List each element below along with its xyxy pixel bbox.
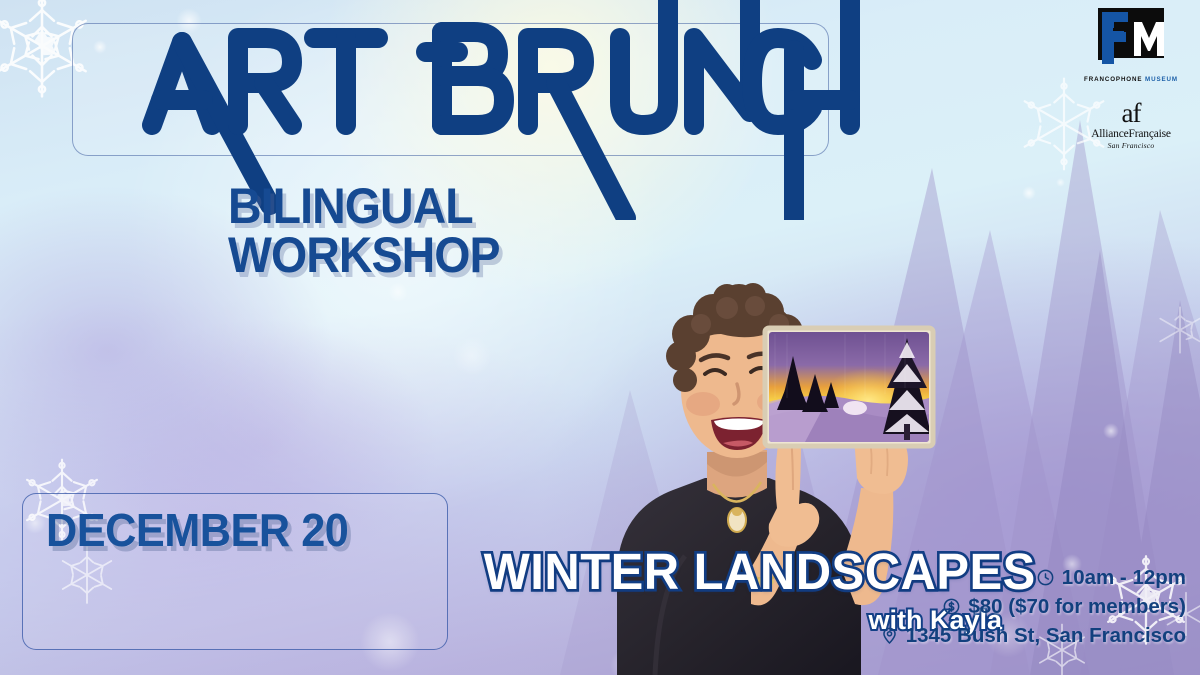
info-row-time: 10am - 12pm [766, 563, 1186, 592]
event-poster: ART BRUNCH [0, 0, 1200, 675]
info-row-location: 1345 Bush St, San Francisco [766, 621, 1186, 650]
fm-caption: FRANCOPHONE MUSEUM [1072, 76, 1190, 83]
af-name: AllianceFrançaise [1072, 128, 1190, 140]
logo-group: FRANCOPHONE MUSEUM af AllianceFrançaise … [1072, 6, 1190, 150]
subtitle-line-1: BILINGUAL [228, 182, 619, 231]
fm-mark-icon [1094, 6, 1168, 68]
info-row-price: $80 ($70 for members) [766, 592, 1186, 621]
info-text-location: 1345 Bush St, San Francisco [906, 621, 1186, 650]
info-text-price: $80 ($70 for members) [968, 592, 1186, 621]
fm-caption-accent: MUSEUM [1145, 76, 1178, 83]
alliance-francaise-logo: af AllianceFrançaise San Francisco [1072, 100, 1190, 150]
dollar-icon [942, 597, 961, 616]
af-city: San Francisco [1072, 141, 1190, 150]
af-mark: af [1072, 100, 1190, 127]
fm-caption-main: FRANCOPHONE [1084, 76, 1145, 83]
artwork-painting [765, 328, 933, 446]
clock-icon [1036, 568, 1055, 587]
event-date: DECEMBER 20 [46, 503, 348, 557]
event-info-list: 10am - 12pm $80 ($70 for members) 1345 B… [766, 563, 1186, 650]
location-pin-icon [880, 626, 899, 645]
info-text-time: 10am - 12pm [1062, 563, 1186, 592]
francophone-museum-logo: FRANCOPHONE MUSEUM [1072, 6, 1190, 83]
